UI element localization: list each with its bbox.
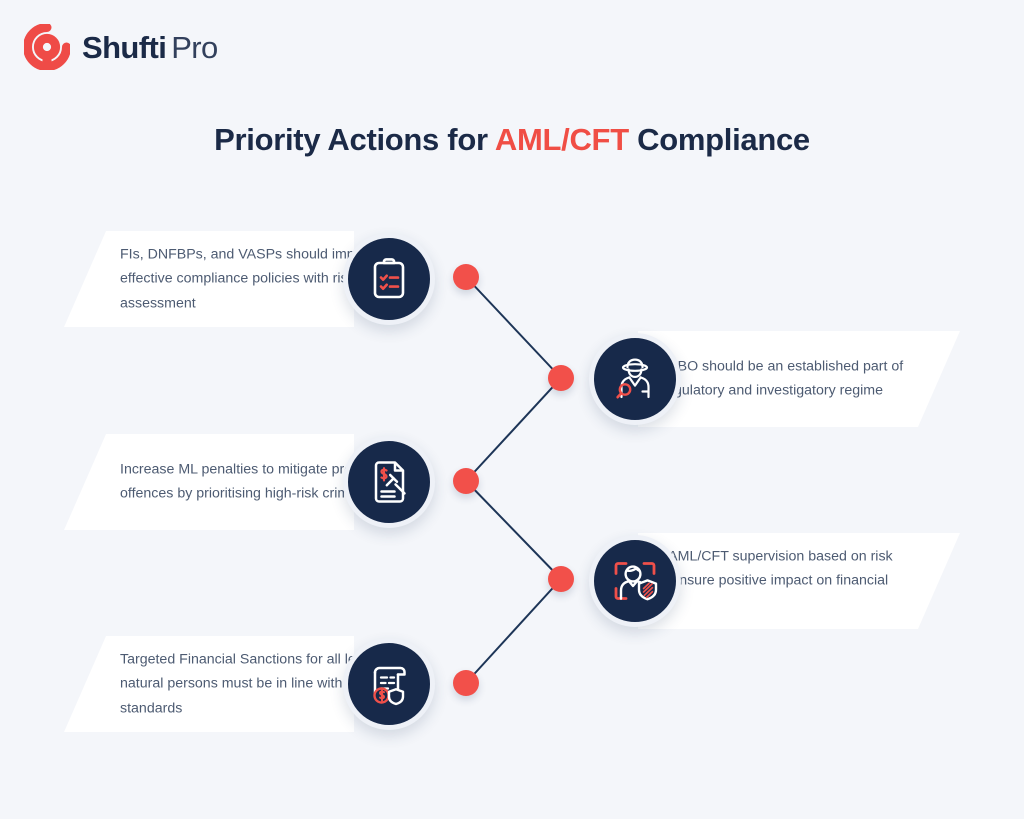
node-supervision[interactable]: Enhance AML/CFT supervision based on ris… [589, 533, 960, 629]
node-verify-ubo[interactable]: Verifying UBO should be an established p… [589, 331, 960, 427]
scroll-dollar-shield-icon [343, 638, 435, 730]
line-3 [466, 481, 561, 579]
dot-left-1 [453, 264, 479, 290]
line-2 [466, 378, 561, 481]
node-sanctions[interactable]: Targeted Financial Sanctions for all leg… [64, 636, 435, 732]
node-compliance-policies[interactable]: FIs, DNFBPs, and VASPs should implement … [64, 231, 435, 327]
line-1 [466, 277, 561, 378]
node-ml-penalties[interactable]: Increase ML penalties to mitigate predic… [64, 434, 435, 530]
dot-right-2 [548, 566, 574, 592]
clipboard-checklist-icon [343, 233, 435, 325]
dot-left-2 [453, 468, 479, 494]
dot-right-1 [548, 365, 574, 391]
priority-actions-diagram: FIs, DNFBPs, and VASPs should implement … [0, 0, 1024, 819]
document-gavel-dollar-icon [343, 436, 435, 528]
face-scan-shield-icon [589, 535, 681, 627]
detective-magnifier-icon [589, 333, 681, 425]
dot-left-3 [453, 670, 479, 696]
line-4 [466, 579, 561, 683]
